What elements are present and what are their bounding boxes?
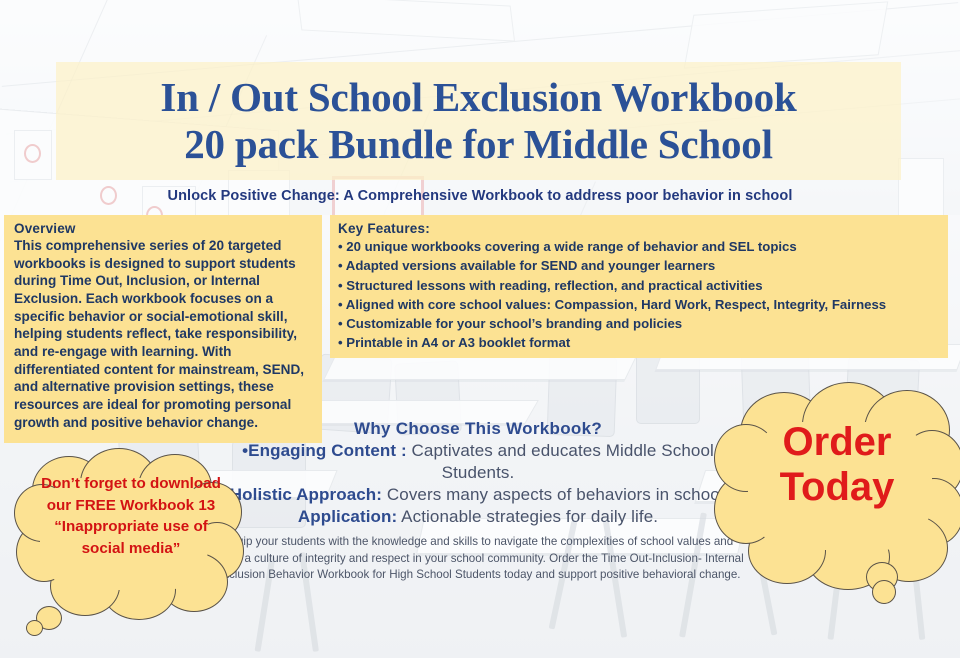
why-choose-title: Why Choose This Workbook?: [208, 418, 748, 440]
bubble-tail-dot: [872, 580, 896, 604]
key-features-list: 20 unique workbooks covering a wide rang…: [338, 237, 938, 353]
bubble-tail-dot: [26, 620, 43, 636]
why-choose-point-2: •Holistic Approach: Covers many aspects …: [208, 484, 748, 506]
key-feature-item: Aligned with core school values: Compass…: [338, 295, 938, 314]
key-feature-item: 20 unique workbooks covering a wide rang…: [338, 237, 938, 256]
why-choose-point-3: Application: Actionable strategies for d…: [208, 506, 748, 528]
why-choose-point-1-text: Captivates and educates Middle School St…: [407, 441, 714, 482]
overview-heading: Overview: [14, 221, 312, 236]
poster-title-line-2: 20 pack Bundle for Middle School: [184, 121, 773, 168]
key-features-heading: Key Features:: [338, 221, 938, 236]
key-features-panel: Key Features: 20 unique workbooks coveri…: [330, 215, 948, 358]
title-band: In / Out School Exclusion Workbook 20 pa…: [56, 62, 901, 180]
why-choose-point-3-text: Actionable strategies for daily life.: [397, 507, 658, 526]
poster-canvas: In / Out School Exclusion Workbook 20 pa…: [0, 0, 960, 658]
overview-panel: Overview This comprehensive series of 20…: [4, 215, 322, 443]
order-today-bubble-text: Order Today: [744, 420, 930, 510]
order-line-1: Order: [744, 420, 930, 465]
overview-body: This comprehensive series of 20 targeted…: [14, 237, 312, 431]
why-choose-point-2-text: Covers many aspects of behaviors in scho…: [382, 485, 732, 504]
why-choose-point-1-label: •Engaging Content :: [242, 441, 407, 460]
free-workbook-bubble-text: Don’t forget to download our FREE Workbo…: [40, 473, 222, 559]
key-feature-item: Adapted versions available for SEND and …: [338, 256, 938, 275]
poster-title-line-1: In / Out School Exclusion Workbook: [160, 74, 796, 121]
why-choose-block: Why Choose This Workbook? •Engaging Cont…: [208, 418, 748, 583]
order-today-thought-bubble[interactable]: Order Today: [714, 382, 960, 612]
free-workbook-thought-bubble[interactable]: Don’t forget to download our FREE Workbo…: [14, 448, 246, 633]
why-choose-point-3-label: Application:: [298, 507, 397, 526]
poster-subtitle: Unlock Positive Change: A Comprehensive …: [0, 188, 960, 204]
key-feature-item: Printable in A4 or A3 booklet format: [338, 333, 938, 352]
why-choose-point-1: •Engaging Content : Captivates and educa…: [208, 440, 748, 484]
order-line-2: Today: [744, 465, 930, 510]
key-feature-item: Customizable for your school’s branding …: [338, 314, 938, 333]
why-choose-point-2-label: •Holistic Approach:: [224, 485, 382, 504]
key-feature-item: Structured lessons with reading, reflect…: [338, 276, 938, 295]
why-choose-paragraph: Equip your students with the knowledge a…: [208, 534, 748, 583]
